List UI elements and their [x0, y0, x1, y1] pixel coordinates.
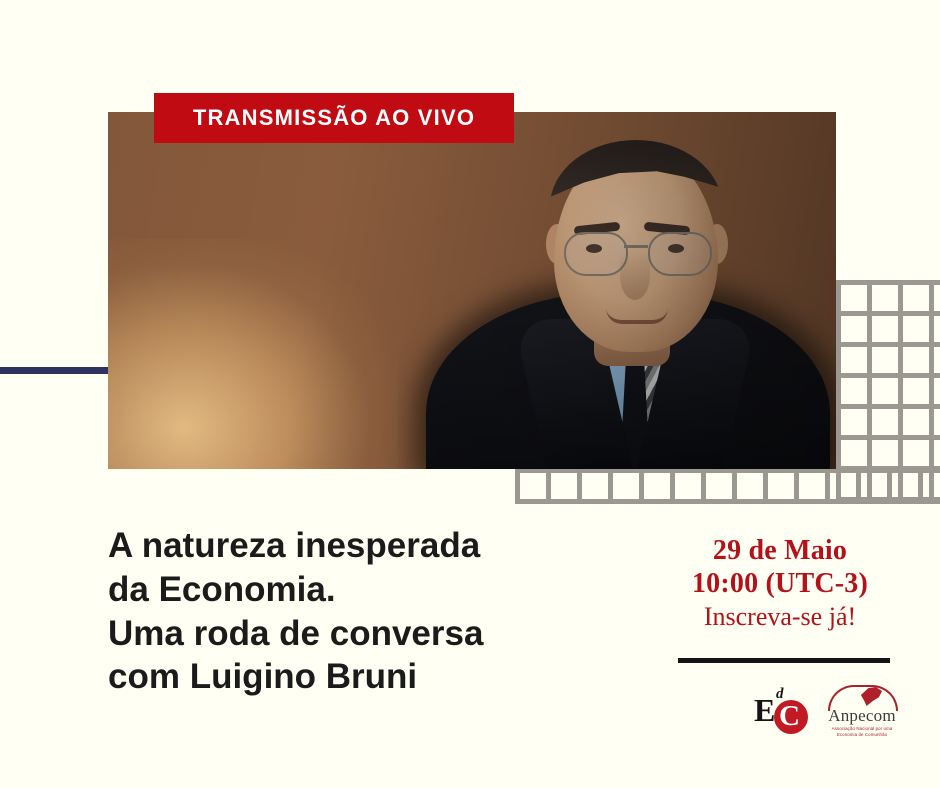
event-info-block: 29 de Maio 10:00 (UTC-3) Inscreva-se já! — [660, 534, 900, 634]
headline-line-4: com Luigino Bruni — [108, 655, 608, 699]
register-cta[interactable]: Inscreva-se já! — [660, 601, 900, 634]
anpecom-wordmark: Anpecom — [816, 706, 908, 726]
live-broadcast-banner: TRANSMISSÃO AO VIVO — [154, 93, 514, 143]
logo-row: E d C Anpecom Associação Nacional por um… — [740, 684, 910, 746]
grid-decoration-bottom — [515, 468, 940, 504]
anpecom-tagline-line-1: Associação Nacional por uma — [816, 726, 908, 732]
headline-line-4-prefix: com — [108, 657, 190, 696]
anpecom-logo: Anpecom Associação Nacional por uma Econ… — [816, 684, 908, 742]
anpecom-tagline-line-2: Economia de Comunhão — [816, 732, 908, 738]
event-date: 29 de Maio — [660, 534, 900, 567]
live-broadcast-label: TRANSMISSÃO AO VIVO — [193, 105, 475, 131]
speaker-name: Luigino Bruni — [190, 657, 417, 696]
edc-letter-c: C — [779, 702, 800, 731]
edc-letter-e: E — [754, 694, 775, 726]
photo-shading-overlay — [108, 112, 836, 469]
speaker-photo — [108, 112, 836, 469]
navy-accent-rule — [0, 367, 110, 374]
divider-rule — [678, 658, 890, 663]
headline-line-3: Uma roda de conversa — [108, 612, 608, 656]
event-time: 10:00 (UTC-3) — [660, 567, 900, 600]
edc-logo: E d C — [754, 686, 814, 736]
headline-line-1: A natureza inesperada — [108, 524, 608, 568]
headline-line-2: da Economia. — [108, 568, 608, 612]
page-title: A natureza inesperada da Economia. Uma r… — [108, 524, 608, 699]
event-poster: TRANSMISSÃO AO VIVO A natureza inesperad… — [0, 0, 940, 788]
